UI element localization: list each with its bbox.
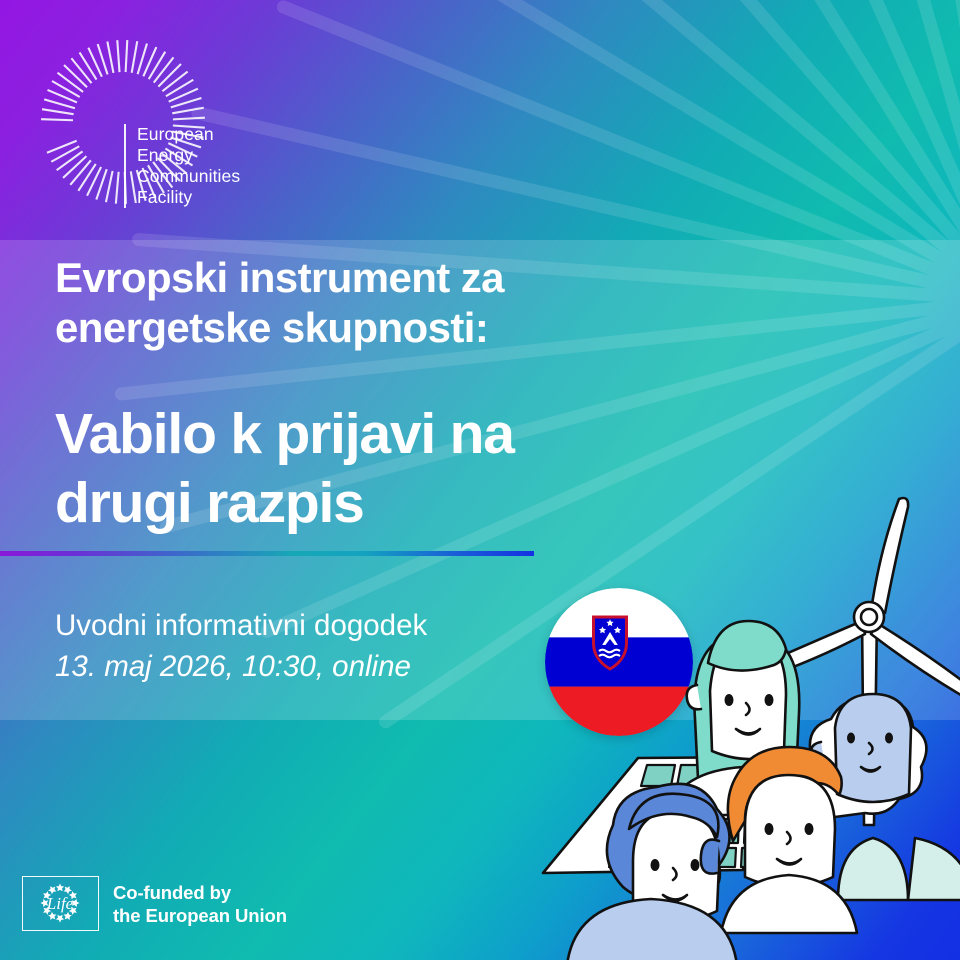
event-date: 13. maj 2026, 10:30, online: [55, 646, 427, 687]
eu-funding-line-2: the European Union: [113, 904, 287, 927]
event-subtitle: Uvodni informativni dogodek: [55, 605, 427, 646]
kicker-text: Evropski instrument za energetske skupno…: [55, 253, 675, 353]
poster-canvas: European Energy Communities Facility Evr…: [0, 0, 960, 960]
logo-line-3: Communities: [137, 166, 240, 187]
eecf-logo: European Energy Communities Facility: [26, 26, 286, 206]
gradient-divider: [0, 551, 534, 556]
energy-community-illustration: [505, 495, 960, 960]
logo-line-1: European: [137, 124, 240, 145]
eu-funding-lockup: Life Co-funded by the European Union: [22, 876, 287, 931]
kicker-line-2: energetske skupnosti:: [55, 303, 675, 353]
eu-funding-line-1: Co-funded by: [113, 881, 287, 904]
event-info: Uvodni informativni dogodek 13. maj 2026…: [55, 605, 427, 687]
headline-line-1: Vabilo k prijavi na: [55, 400, 695, 469]
life-wordmark: Life: [46, 894, 74, 913]
logo-wordmark: European Energy Communities Facility: [124, 124, 240, 208]
life-programme-icon: Life: [22, 876, 99, 931]
kicker-line-1: Evropski instrument za: [55, 253, 675, 303]
logo-line-2: Energy: [137, 145, 240, 166]
eu-funding-text: Co-funded by the European Union: [113, 881, 287, 927]
logo-line-4: Facility: [137, 187, 240, 208]
